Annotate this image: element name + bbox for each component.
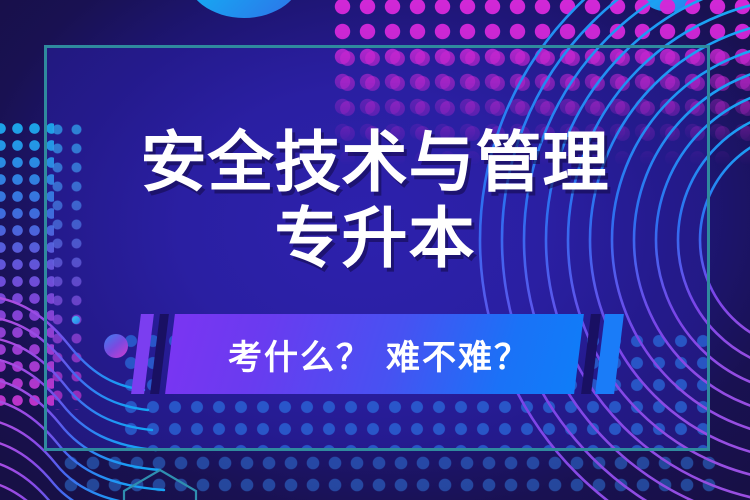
bottom-dot-grid-outer — [60, 452, 720, 500]
headline-line-1: 安全技术与管理 — [0, 129, 750, 195]
blue-circle-small-icon — [640, 0, 700, 12]
headline-line-2: 专升本 — [0, 205, 750, 271]
blue-circle-icon — [185, 0, 303, 18]
hexagon-outline-icon — [120, 468, 200, 500]
promo-poster: 安全技术与管理 专升本 考什么？ 难不难？ — [0, 0, 750, 500]
subtitle-part-1: 考什么？ — [228, 330, 372, 379]
subtitle-text-block: 考什么？ 难不难？ — [0, 306, 750, 402]
subtitle-part-2: 难不难？ — [386, 330, 530, 379]
headline-block: 安全技术与管理 专升本 — [0, 129, 750, 271]
subtitle-banner: 考什么？ 难不难？ — [0, 306, 750, 402]
